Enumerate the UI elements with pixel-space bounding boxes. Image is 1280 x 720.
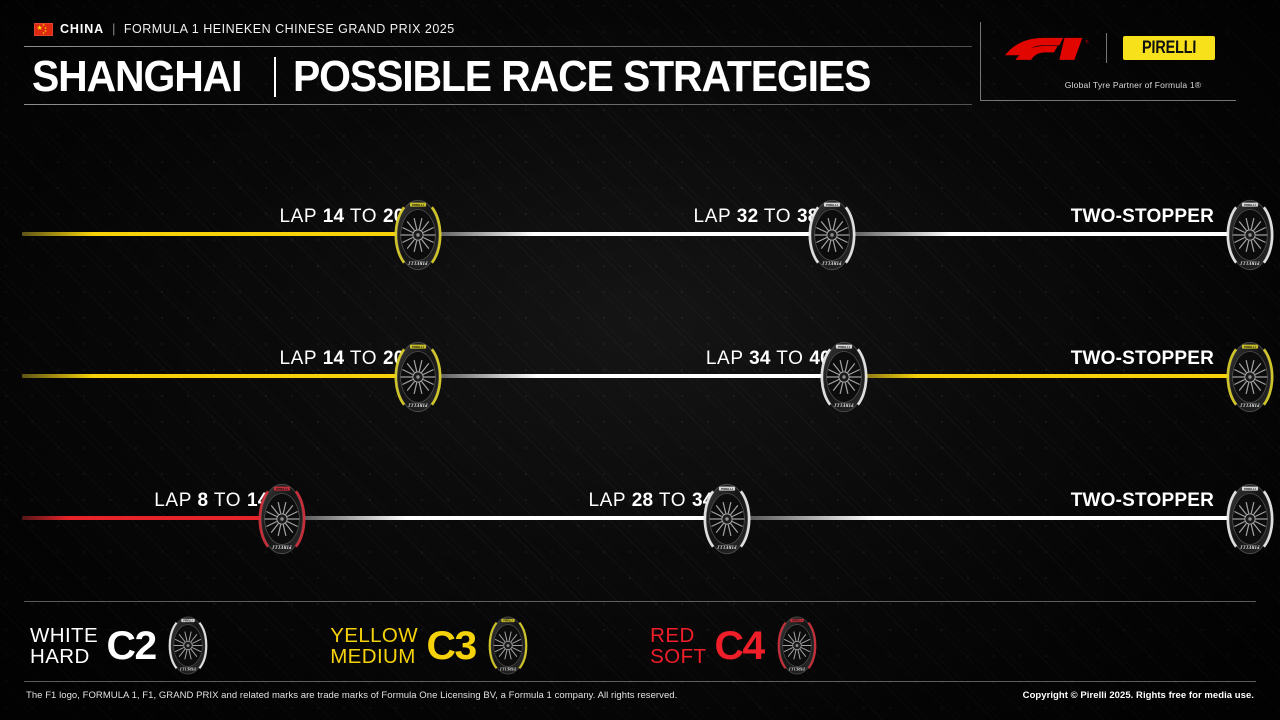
title-subject: POSSIBLE RACE STRATEGIES (293, 55, 870, 99)
legend-item-medium: YELLOW MEDIUM C3 PIRELLI PIRELLI (330, 615, 532, 676)
final-tyre-marker: PIRELLI PIRELLI (1221, 198, 1279, 272)
strategy-row: LAP 14 TO 20 PIRELLI PIRELLI LAP 32 TO 3… (0, 158, 1280, 278)
to-word: TO (214, 490, 241, 511)
svg-text:PIRELLI: PIRELLI (1244, 203, 1256, 207)
tyre-icon-medium: PIRELLI PIRELLI (389, 198, 447, 272)
to-word: TO (350, 348, 377, 369)
final-tyre-marker: PIRELLI PIRELLI (1221, 340, 1279, 414)
legend-words: YELLOW MEDIUM (330, 625, 418, 667)
stint-track (22, 516, 1258, 520)
tyre-icon-hard: PIRELLI PIRELLI (164, 615, 212, 676)
strategy-row: LAP 8 TO 14 PIRELLI PIRELLI LAP 28 TO 34 (0, 442, 1280, 562)
stint-segment-medium (844, 374, 1258, 378)
tyre-partner-text: Global Tyre Partner of Formula 1® (1028, 80, 1238, 90)
tyre-icon-hard: PIRELLI PIRELLI (803, 198, 861, 272)
tyre-icon-soft: PIRELLI PIRELLI (253, 482, 311, 556)
logo-rule-bottom (980, 100, 1236, 101)
logo-divider-vertical (980, 22, 981, 100)
stint-track (22, 232, 1258, 236)
title-divider (274, 57, 276, 97)
legend-colour-word: RED (650, 625, 706, 646)
stint-segment-medium (22, 232, 418, 236)
strategy-name: TWO-STOPPER (1071, 206, 1228, 228)
f1-logo: ® (1002, 35, 1090, 61)
lap-from: 14 (323, 348, 345, 369)
china-flag-icon: ★★★★★ (34, 23, 53, 36)
logo-block: ® PIRELLI Global Tyre Partner of Formula… (980, 0, 1280, 110)
stint-segment-hard (832, 232, 1258, 236)
svg-text:PIRELLI: PIRELLI (1239, 402, 1259, 407)
svg-text:PIRELLI: PIRELLI (500, 666, 516, 671)
strategy-row: LAP 14 TO 20 PIRELLI PIRELLI LAP 34 TO 4… (0, 300, 1280, 420)
tyre-icon-soft: PIRELLI PIRELLI (773, 615, 821, 676)
tyre-icon-hard: PIRELLI PIRELLI (698, 482, 756, 556)
footer: The F1 logo, FORMULA 1, F1, GRAND PRIX a… (0, 690, 1280, 720)
legend-words: RED SOFT (650, 625, 706, 667)
svg-text:PIRELLI: PIRELLI (716, 544, 736, 549)
legend-items: WHITE HARD C2 PIRELLI PIRELLI YELLOW MED… (30, 615, 821, 676)
tyre-icon-medium: PIRELLI PIRELLI (1221, 340, 1279, 414)
strategy-name: TWO-STOPPER (1071, 348, 1228, 370)
svg-text:PIRELLI: PIRELLI (833, 402, 853, 407)
svg-text:PIRELLI: PIRELLI (180, 666, 196, 671)
legend-words: WHITE HARD (30, 625, 98, 667)
country-name: CHINA (60, 22, 104, 36)
legend-colour-word: WHITE (30, 625, 98, 646)
lap-word: LAP (279, 206, 316, 227)
svg-text:PIRELLI: PIRELLI (721, 487, 733, 491)
logos-row: ® PIRELLI (1002, 33, 1215, 63)
svg-text:PIRELLI: PIRELLI (503, 620, 513, 623)
svg-text:PIRELLI: PIRELLI (826, 203, 838, 207)
to-word: TO (350, 206, 377, 227)
tyre-icon-medium: PIRELLI PIRELLI (484, 615, 532, 676)
svg-text:PIRELLI: PIRELLI (821, 260, 841, 265)
svg-text:PIRELLI: PIRELLI (1239, 544, 1259, 549)
legend-rule-bottom (24, 681, 1256, 682)
lap-word: LAP (694, 206, 731, 227)
pit-stop-tyre-marker: PIRELLI PIRELLI (803, 198, 861, 272)
event-name: FORMULA 1 HEINEKEN CHINESE GRAND PRIX 20… (124, 22, 455, 36)
header-separator: | (111, 22, 117, 36)
header: ★★★★★ CHINA | FORMULA 1 HEINEKEN CHINESE… (0, 0, 1280, 110)
lap-word: LAP (588, 490, 625, 511)
tyre-icon-medium: PIRELLI PIRELLI (389, 340, 447, 414)
lap-from: 8 (198, 490, 209, 511)
svg-text:PIRELLI: PIRELLI (1239, 260, 1259, 265)
tyre-icon-hard: PIRELLI PIRELLI (815, 340, 873, 414)
lap-from: 28 (632, 490, 654, 511)
pit-stop-tyre-marker: PIRELLI PIRELLI (389, 198, 447, 272)
svg-text:PIRELLI: PIRELLI (1244, 345, 1256, 349)
svg-text:PIRELLI: PIRELLI (412, 203, 424, 207)
legend-item-soft: RED SOFT C4 PIRELLI PIRELLI (650, 615, 820, 676)
lap-word: LAP (279, 348, 316, 369)
lap-word: LAP (154, 490, 191, 511)
stint-segment-hard (418, 374, 844, 378)
stint-segment-hard (282, 516, 727, 520)
svg-text:PIRELLI: PIRELLI (1244, 487, 1256, 491)
stint-segment-soft (22, 516, 282, 520)
event-line: ★★★★★ CHINA | FORMULA 1 HEINEKEN CHINESE… (34, 22, 455, 36)
svg-text:PIRELLI: PIRELLI (183, 620, 193, 623)
logo-separator (1106, 33, 1107, 63)
lap-from: 34 (749, 348, 771, 369)
legend-rule-top (24, 601, 1256, 602)
to-word: TO (659, 490, 686, 511)
svg-text:PIRELLI: PIRELLI (407, 260, 427, 265)
svg-text:PIRELLI: PIRELLI (276, 487, 288, 491)
legend-compound-word: SOFT (650, 646, 706, 667)
header-rule-bottom (24, 104, 972, 105)
svg-text:PIRELLI: PIRELLI (838, 345, 850, 349)
svg-text:PIRELLI: PIRELLI (412, 345, 424, 349)
pirelli-wordmark: PIRELLI (1142, 38, 1196, 58)
stint-segment-medium (22, 374, 418, 378)
footer-copyright: Copyright © Pirelli 2025. Rights free fo… (1023, 690, 1254, 701)
strategy-name: TWO-STOPPER (1071, 490, 1228, 512)
page-title: SHANGHAI POSSIBLE RACE STRATEGIES (32, 52, 914, 102)
lap-from: 14 (323, 206, 345, 227)
lap-from: 32 (737, 206, 759, 227)
legend-compound-word: HARD (30, 646, 98, 667)
svg-text:PIRELLI: PIRELLI (407, 402, 427, 407)
pit-stop-tyre-marker: PIRELLI PIRELLI (698, 482, 756, 556)
to-word: TO (776, 348, 803, 369)
footer-legal-text: The F1 logo, FORMULA 1, F1, GRAND PRIX a… (26, 690, 677, 701)
pit-stop-tyre-marker: PIRELLI PIRELLI (815, 340, 873, 414)
legend-colour-word: YELLOW (330, 625, 418, 646)
svg-text:PIRELLI: PIRELLI (792, 620, 802, 623)
legend-compound-code: C2 (107, 626, 156, 666)
tyre-icon-hard: PIRELLI PIRELLI (1221, 482, 1279, 556)
pit-stop-tyre-marker: PIRELLI PIRELLI (253, 482, 311, 556)
svg-text:®: ® (1085, 40, 1089, 45)
circuit-name: SHANGHAI (32, 55, 241, 99)
legend-compound-code: C3 (427, 626, 476, 666)
stint-segment-hard (727, 516, 1258, 520)
stint-segment-hard (418, 232, 832, 236)
legend-compound-code: C4 (715, 626, 764, 666)
svg-text:PIRELLI: PIRELLI (788, 666, 804, 671)
tyre-icon-hard: PIRELLI PIRELLI (1221, 198, 1279, 272)
final-tyre-marker: PIRELLI PIRELLI (1221, 482, 1279, 556)
legend-item-hard: WHITE HARD C2 PIRELLI PIRELLI (30, 615, 212, 676)
pit-stop-tyre-marker: PIRELLI PIRELLI (389, 340, 447, 414)
tyre-compound-legend: WHITE HARD C2 PIRELLI PIRELLI YELLOW MED… (0, 601, 1280, 689)
header-rule-top (24, 46, 972, 47)
pirelli-logo: PIRELLI (1123, 36, 1215, 60)
svg-text:PIRELLI: PIRELLI (271, 544, 291, 549)
to-word: TO (764, 206, 791, 227)
lap-word: LAP (706, 348, 743, 369)
stint-track (22, 374, 1258, 378)
legend-compound-word: MEDIUM (330, 646, 418, 667)
